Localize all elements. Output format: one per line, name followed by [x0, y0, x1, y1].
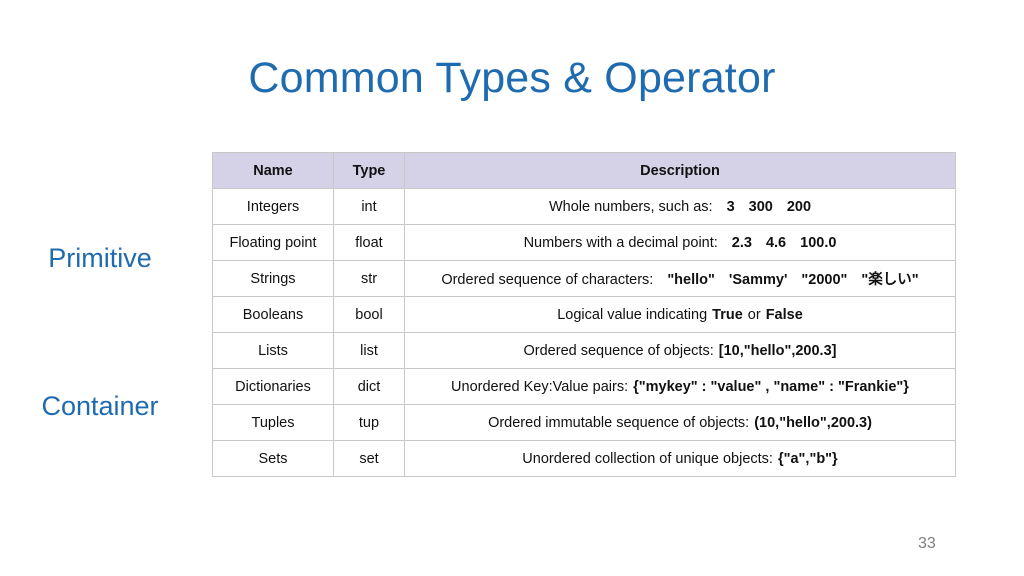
cell-description: Ordered sequence of objects:[10,"hello",…: [405, 333, 956, 369]
types-table-container: Name Type Description IntegersintWhole n…: [212, 152, 955, 477]
cell-description: Whole numbers, such as:3300200: [405, 189, 956, 225]
cell-name: Floating point: [213, 225, 334, 261]
cell-name: Dictionaries: [213, 369, 334, 405]
cell-type: float: [334, 225, 405, 261]
table-row: SetssetUnordered collection of unique ob…: [213, 441, 956, 477]
table-row: BooleansboolLogical value indicatingTrue…: [213, 297, 956, 333]
description-example: 3: [727, 199, 735, 215]
cell-name: Lists: [213, 333, 334, 369]
column-header-type: Type: [334, 153, 405, 189]
description-example: 100.0: [800, 235, 836, 251]
description-example: 300: [749, 199, 773, 215]
cell-name: Sets: [213, 441, 334, 477]
cell-description: Unordered collection of unique objects:{…: [405, 441, 956, 477]
cell-type: dict: [334, 369, 405, 405]
column-header-description: Description: [405, 153, 956, 189]
description-text: or: [748, 307, 761, 323]
cell-type: tup: [334, 405, 405, 441]
description-example: [10,"hello",200.3]: [719, 343, 837, 359]
description-example: 200: [787, 199, 811, 215]
description-text: Ordered sequence of characters:: [441, 272, 653, 288]
column-header-name: Name: [213, 153, 334, 189]
table-row: IntegersintWhole numbers, such as:330020…: [213, 189, 956, 225]
cell-type: bool: [334, 297, 405, 333]
description-example: "hello": [667, 272, 715, 288]
description-example: 2.3: [732, 235, 752, 251]
group-label-primitive: Primitive: [0, 245, 200, 272]
cell-description: Logical value indicatingTrueorFalse: [405, 297, 956, 333]
cell-type: str: [334, 261, 405, 297]
description-text: Ordered immutable sequence of objects:: [488, 415, 749, 431]
description-example: {"a","b"}: [778, 451, 838, 467]
description-example: (10,"hello",200.3): [754, 415, 872, 431]
group-label-container: Container: [0, 393, 200, 420]
description-example: "楽しい": [861, 272, 918, 288]
table-row: DictionariesdictUnordered Key:Value pair…: [213, 369, 956, 405]
cell-name: Strings: [213, 261, 334, 297]
description-example: {"mykey" : "value" , "name" : "Frankie"}: [633, 379, 909, 395]
cell-type: list: [334, 333, 405, 369]
cell-description: Ordered sequence of characters:"hello"'S…: [405, 261, 956, 297]
description-example: 4.6: [766, 235, 786, 251]
cell-description: Unordered Key:Value pairs:{"mykey" : "va…: [405, 369, 956, 405]
cell-name: Booleans: [213, 297, 334, 333]
description-text: Unordered collection of unique objects:: [522, 451, 773, 467]
cell-type: set: [334, 441, 405, 477]
description-text: Logical value indicating: [557, 307, 707, 323]
cell-name: Tuples: [213, 405, 334, 441]
table-row: Floating pointfloatNumbers with a decima…: [213, 225, 956, 261]
table-header-row: Name Type Description: [213, 153, 956, 189]
common-types-table: Name Type Description IntegersintWhole n…: [212, 152, 956, 477]
table-row: ListslistOrdered sequence of objects:[10…: [213, 333, 956, 369]
description-example: False: [766, 307, 803, 323]
description-example: True: [712, 307, 743, 323]
table-body: IntegersintWhole numbers, such as:330020…: [213, 189, 956, 477]
page-title: Common Types & Operator: [0, 55, 1024, 102]
table-row: TuplestupOrdered immutable sequence of o…: [213, 405, 956, 441]
table-row: StringsstrOrdered sequence of characters…: [213, 261, 956, 297]
cell-description: Ordered immutable sequence of objects:(1…: [405, 405, 956, 441]
description-example: 'Sammy': [729, 272, 787, 288]
cell-description: Numbers with a decimal point:2.34.6100.0: [405, 225, 956, 261]
description-example: "2000": [801, 272, 847, 288]
description-text: Numbers with a decimal point:: [524, 235, 718, 251]
description-text: Ordered sequence of objects:: [524, 343, 714, 359]
slide-page-number: 33: [918, 535, 936, 553]
cell-name: Integers: [213, 189, 334, 225]
table-header: Name Type Description: [213, 153, 956, 189]
description-text: Whole numbers, such as:: [549, 199, 713, 215]
cell-type: int: [334, 189, 405, 225]
description-text: Unordered Key:Value pairs:: [451, 379, 628, 395]
